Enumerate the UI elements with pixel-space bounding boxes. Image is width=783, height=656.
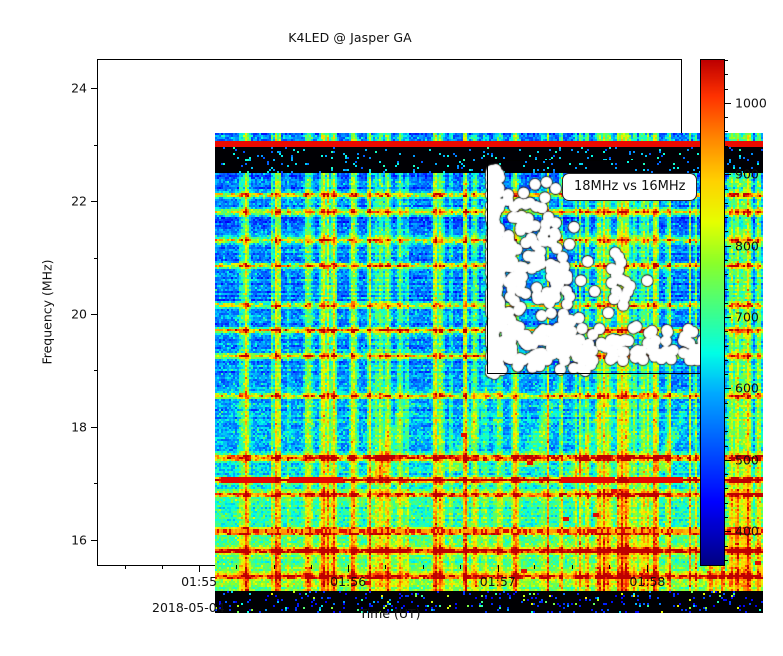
colorbar-tick-minor <box>724 89 728 90</box>
y-tick-minor-5 <box>94 258 98 259</box>
colorbar-tick-1000 <box>724 103 731 104</box>
main-axes: 18MHz vs 16MHz 161820222401:5501:5601:57… <box>97 59 682 566</box>
colorbar-gradient <box>701 60 724 565</box>
y-tick-label-16: 16 <box>71 532 87 547</box>
x-tick-01-57 <box>498 565 499 572</box>
colorbar-tick-minor <box>724 131 728 132</box>
y-axis-label: Frequency (MHz) <box>40 259 55 364</box>
scatter-overlay <box>215 133 763 613</box>
figure-canvas: K4LED @ Jasper GA 18MHz vs 16MHz 1618202… <box>0 0 783 656</box>
colorbar-tick-minor <box>724 503 728 504</box>
colorbar-label-800: 800 <box>735 238 759 253</box>
colorbar-label-600: 600 <box>735 381 759 396</box>
colorbar-label-1000: 1000 <box>735 95 767 110</box>
x-tick-label-01-57: 01:57 <box>480 574 516 589</box>
colorbar-tick-minor <box>724 560 728 561</box>
colorbar-label-400: 400 <box>735 524 759 539</box>
spectrogram-image <box>215 133 763 613</box>
x-tick-01-58 <box>647 565 648 572</box>
colorbar-tick-minor <box>724 331 728 332</box>
colorbar-tick-800 <box>724 246 731 247</box>
colorbar-tick-minor <box>724 203 728 204</box>
x-tick-minor <box>460 565 461 569</box>
colorbar-tick-minor <box>724 231 728 232</box>
colorbar-label-700: 700 <box>735 310 759 325</box>
colorbar-tick-minor <box>724 189 728 190</box>
x-tick-minor <box>385 565 386 569</box>
colorbar: 4005006007008009001000 <box>700 59 725 566</box>
y-tick-22 <box>91 201 98 202</box>
x-tick-minor <box>125 565 126 569</box>
colorbar-tick-minor <box>724 60 728 61</box>
colorbar-tick-400 <box>724 531 731 532</box>
chart-title: K4LED @ Jasper GA <box>0 30 700 45</box>
y-tick-minor-7 <box>94 145 98 146</box>
x-axis-label: Time (UT) <box>359 606 420 621</box>
colorbar-label-500: 500 <box>735 452 759 467</box>
y-tick-20 <box>91 314 98 315</box>
x-tick-minor <box>311 565 312 569</box>
colorbar-tick-minor <box>724 403 728 404</box>
colorbar-tick-900 <box>724 174 731 175</box>
colorbar-label-900: 900 <box>735 167 759 182</box>
colorbar-tick-minor <box>724 260 728 261</box>
colorbar-tick-minor <box>724 360 728 361</box>
colorbar-tick-minor <box>724 474 728 475</box>
x-tick-minor <box>236 565 237 569</box>
x-tick-minor <box>609 565 610 569</box>
x-tick-label-01-58: 01:58 <box>629 574 665 589</box>
colorbar-tick-600 <box>724 388 731 389</box>
y-tick-minor-3 <box>94 370 98 371</box>
colorbar-tick-minor <box>724 517 728 518</box>
colorbar-tick-700 <box>724 317 731 318</box>
y-tick-24 <box>91 88 98 89</box>
y-tick-18 <box>91 427 98 428</box>
x-tick-01-55 <box>199 565 200 572</box>
colorbar-tick-minor <box>724 289 728 290</box>
y-tick-minor-1 <box>94 483 98 484</box>
y-tick-label-20: 20 <box>71 307 87 322</box>
colorbar-tick-minor <box>724 374 728 375</box>
colorbar-tick-minor <box>724 160 728 161</box>
colorbar-tick-minor <box>724 274 728 275</box>
annotation-label: 18MHz vs 16MHz <box>562 173 697 201</box>
x-tick-minor <box>423 565 424 569</box>
colorbar-tick-minor <box>724 303 728 304</box>
colorbar-tick-minor <box>724 346 728 347</box>
x-tick-label-01-56: 01:56 <box>330 574 366 589</box>
colorbar-tick-minor <box>724 217 728 218</box>
colorbar-tick-minor <box>724 417 728 418</box>
colorbar-tick-minor <box>724 117 728 118</box>
x-tick-minor <box>162 565 163 569</box>
colorbar-tick-minor <box>724 546 728 547</box>
x-tick-01-56 <box>348 565 349 572</box>
y-tick-label-22: 22 <box>71 194 87 209</box>
x-tick-minor <box>534 565 535 569</box>
colorbar-tick-minor <box>724 74 728 75</box>
x-tick-label-01-55: 01:55 <box>181 574 217 589</box>
y-tick-label-18: 18 <box>71 419 87 434</box>
x-tick-minor <box>274 565 275 569</box>
colorbar-tick-minor <box>724 446 728 447</box>
y-tick-16 <box>91 540 98 541</box>
colorbar-tick-minor <box>724 488 728 489</box>
colorbar-tick-minor <box>724 146 728 147</box>
colorbar-tick-500 <box>724 460 731 461</box>
date-label: 2018-05-04 <box>152 600 225 615</box>
x-tick-minor <box>572 565 573 569</box>
colorbar-tick-minor <box>724 431 728 432</box>
y-tick-label-24: 24 <box>71 81 87 96</box>
